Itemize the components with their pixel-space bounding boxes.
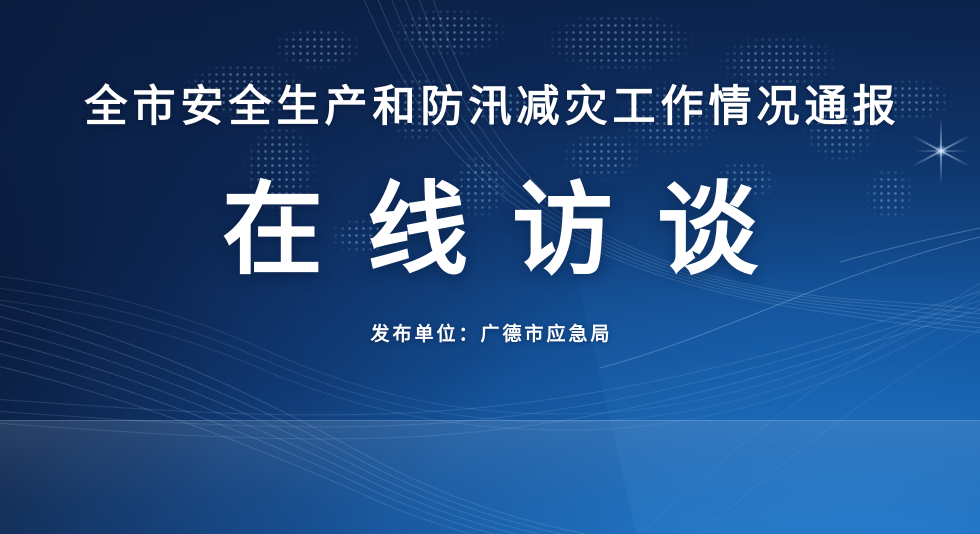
headline-online-interview: 在线访谈	[0, 172, 980, 290]
banner-content: 全市安全生产和防汛减灾工作情况通报 在线访谈 发布单位：广德市应急局	[0, 0, 980, 534]
publisher-subtitle: 发布单位：广德市应急局	[0, 322, 980, 348]
page-title: 全市安全生产和防汛减灾工作情况通报	[0, 82, 980, 132]
online-interview-banner: 全市安全生产和防汛减灾工作情况通报 在线访谈 发布单位：广德市应急局	[0, 0, 980, 534]
